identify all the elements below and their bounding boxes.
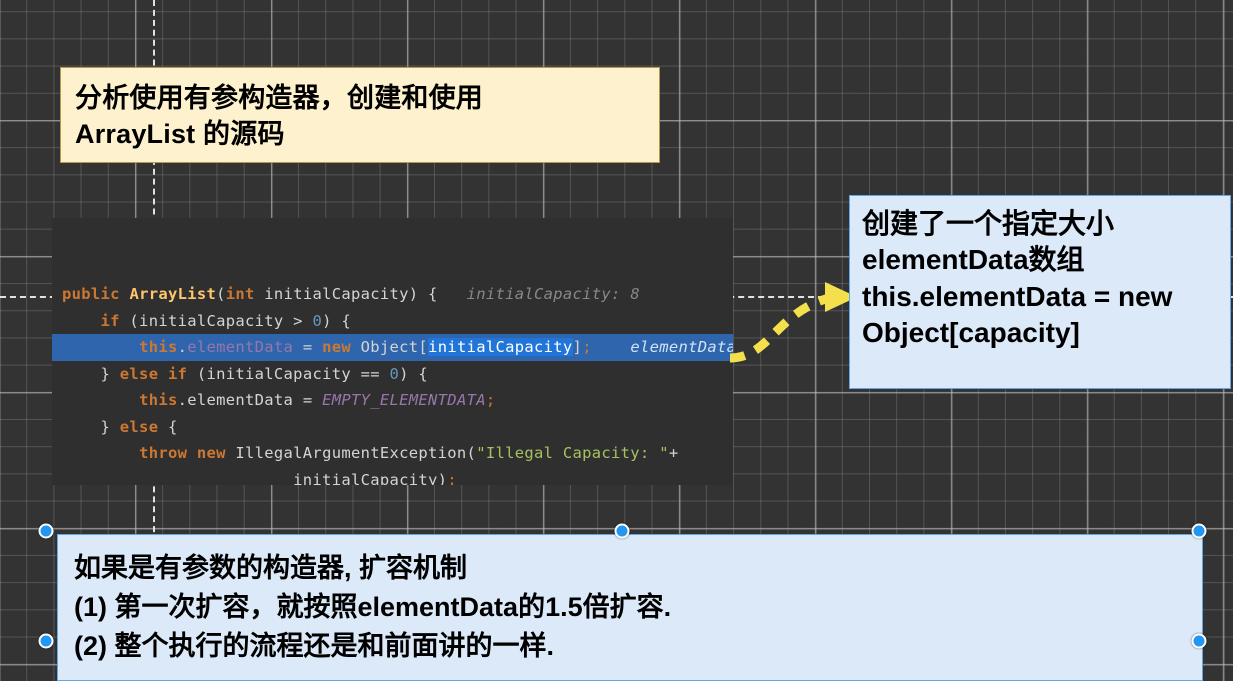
- code-line: } else if (initialCapacity == 0) {: [52, 361, 733, 388]
- code-token: "Illegal Capacity: ": [476, 444, 669, 462]
- whiteboard-canvas[interactable]: 分析使用有参构造器，创建和使用 ArrayList 的源码 public Arr…: [0, 0, 1233, 681]
- code-token: else: [120, 418, 159, 436]
- code-token: IllegalArgumentException(: [226, 444, 476, 462]
- handle-top-right[interactable]: [1192, 524, 1207, 539]
- bottom-note-line-3: (2) 整个执行的流程还是和前面讲的一样.: [74, 627, 1186, 666]
- code-token: new: [322, 338, 351, 356]
- code-token: [303, 312, 313, 330]
- code-token: +: [669, 444, 679, 462]
- code-token: throw new: [139, 444, 226, 462]
- code-line: initialCapacity);: [52, 467, 733, 486]
- code-token: if: [101, 312, 120, 330]
- code-token: [62, 312, 101, 330]
- title-note[interactable]: 分析使用有参构造器，创建和使用 ArrayList 的源码: [60, 67, 660, 163]
- code-token: ;: [582, 338, 592, 356]
- code-line: } else {: [52, 414, 733, 441]
- code-token: int: [226, 285, 255, 303]
- code-token: (initialCapacity ==: [187, 365, 389, 383]
- code-line: this.elementData = new Object[initialCap…: [52, 334, 733, 361]
- bottom-note-line-1: 如果是有参数的构造器, 扩容机制: [74, 549, 1186, 588]
- code-token: ;: [447, 471, 457, 486]
- code-token: }: [62, 418, 120, 436]
- code-token: this: [139, 391, 178, 409]
- code-token: initialCapacity: [428, 338, 572, 356]
- code-token: [62, 444, 139, 462]
- code-token: ArrayList: [129, 285, 216, 303]
- handle-bottom-left[interactable]: [39, 634, 54, 649]
- code-token: ) {: [399, 365, 428, 383]
- right-note-line-2: elementData数组: [862, 242, 1218, 278]
- code-line: throw new IllegalArgumentException("Ille…: [52, 440, 733, 467]
- code-token: EMPTY_ELEMENTDATA: [322, 391, 486, 409]
- right-annotation-note[interactable]: 创建了一个指定大小 elementData数组 this.elementData…: [849, 195, 1231, 389]
- code-token: 0: [390, 365, 400, 383]
- handle-top-middle[interactable]: [615, 524, 630, 539]
- code-token: 0: [312, 312, 322, 330]
- code-token: ;: [486, 391, 496, 409]
- code-token: initialCapacity): [62, 471, 447, 486]
- code-token: initialCapacity: 8: [438, 285, 640, 303]
- dashed-curved-arrow: [725, 280, 865, 370]
- code-token: {: [158, 418, 177, 436]
- code-token: elementData: Obj: [592, 338, 733, 356]
- code-token: .: [178, 391, 188, 409]
- title-note-line-1: 分析使用有参构造器，创建和使用: [75, 80, 645, 116]
- code-token: ) {: [322, 312, 351, 330]
- code-token: (initialCapacity: [120, 312, 293, 330]
- handle-top-left[interactable]: [39, 524, 54, 539]
- code-token: public: [62, 285, 129, 303]
- bottom-note-line-2: (1) 第一次扩容，就按照elementData的1.5倍扩容.: [74, 588, 1186, 627]
- bottom-annotation-note[interactable]: 如果是有参数的构造器, 扩容机制 (1) 第一次扩容，就按照elementDat…: [57, 534, 1203, 681]
- code-token: elementData: [187, 338, 293, 356]
- code-token: [62, 338, 139, 356]
- code-token: (: [216, 285, 226, 303]
- code-token: >: [293, 312, 303, 330]
- code-token: this: [139, 338, 178, 356]
- code-token: Object[: [351, 338, 428, 356]
- handle-bottom-right[interactable]: [1192, 634, 1207, 649]
- code-token: initialCapacity) {: [255, 285, 438, 303]
- code-token: =: [293, 338, 322, 356]
- code-token: else if: [120, 365, 187, 383]
- right-note-line-3: this.elementData = new: [862, 279, 1218, 315]
- code-screenshot[interactable]: public ArrayList(int initialCapacity) { …: [52, 218, 733, 485]
- right-note-line-4: Object[capacity]: [862, 315, 1218, 351]
- code-token: ]: [573, 338, 583, 356]
- code-line: this.elementData = EMPTY_ELEMENTDATA;: [52, 387, 733, 414]
- code-token: [62, 391, 139, 409]
- code-token: elementData: [187, 391, 293, 409]
- code-token: .: [178, 338, 188, 356]
- code-line: if (initialCapacity > 0) {: [52, 308, 733, 335]
- title-note-line-2: ArrayList 的源码: [75, 116, 645, 152]
- code-token: =: [293, 391, 322, 409]
- code-line: public ArrayList(int initialCapacity) { …: [52, 281, 733, 308]
- right-note-line-1: 创建了一个指定大小: [862, 206, 1218, 242]
- code-token: }: [62, 365, 120, 383]
